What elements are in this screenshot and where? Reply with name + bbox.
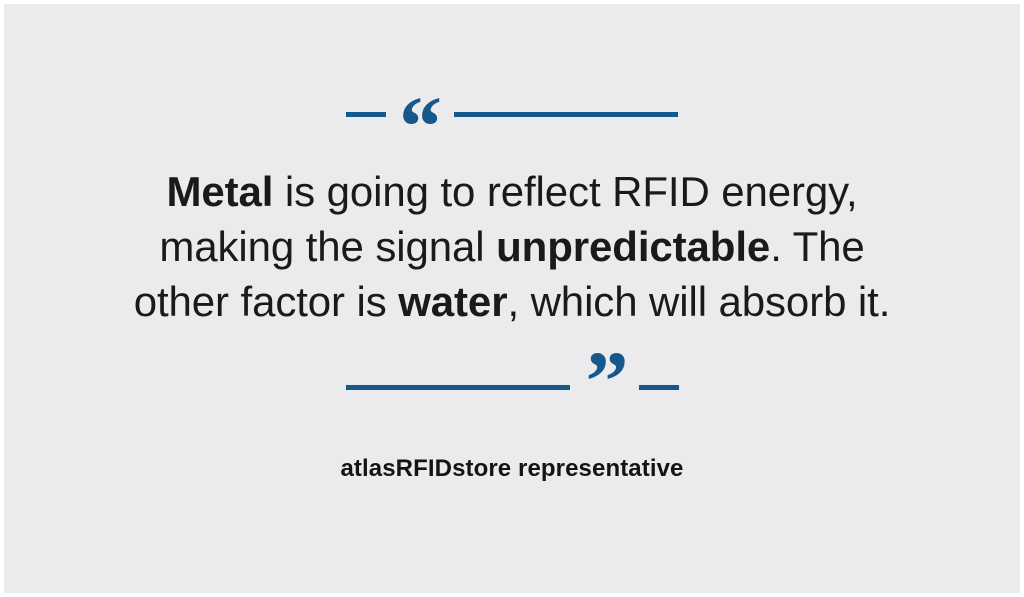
quote-card: “ Metal is going to reflect RFID energy,… [4,4,1020,593]
quote-attribution: atlasRFIDstore representative [4,455,1020,483]
short-rule-left-icon [346,112,386,117]
long-rule-right-icon [454,112,678,117]
quote-line-2: making the signal unpredictable. The [62,219,962,274]
quote-line-3-post: , which will absorb it. [507,278,890,325]
quote-line-1-rest: is going to reflect RFID energy, [273,168,857,215]
long-rule-left-icon [346,385,570,390]
quote-line-2-pre: making the signal [159,223,496,270]
quote-emphasis-metal: Metal [166,168,273,215]
quote-line-2-post: . The [770,223,864,270]
quote-emphasis-water: water [398,278,507,325]
quote-text: Metal is going to reflect RFID energy, m… [62,164,962,329]
ornament-bottom: ” [4,367,1020,407]
ornament-top: “ [4,94,1020,134]
quote-line-3-pre: other factor is [134,278,399,325]
quote-emphasis-unpredictable: unpredictable [496,223,770,270]
short-rule-right-icon [639,385,679,390]
quote-line-1: Metal is going to reflect RFID energy, [62,164,962,219]
quote-line-3: other factor is water, which will absorb… [62,274,962,329]
